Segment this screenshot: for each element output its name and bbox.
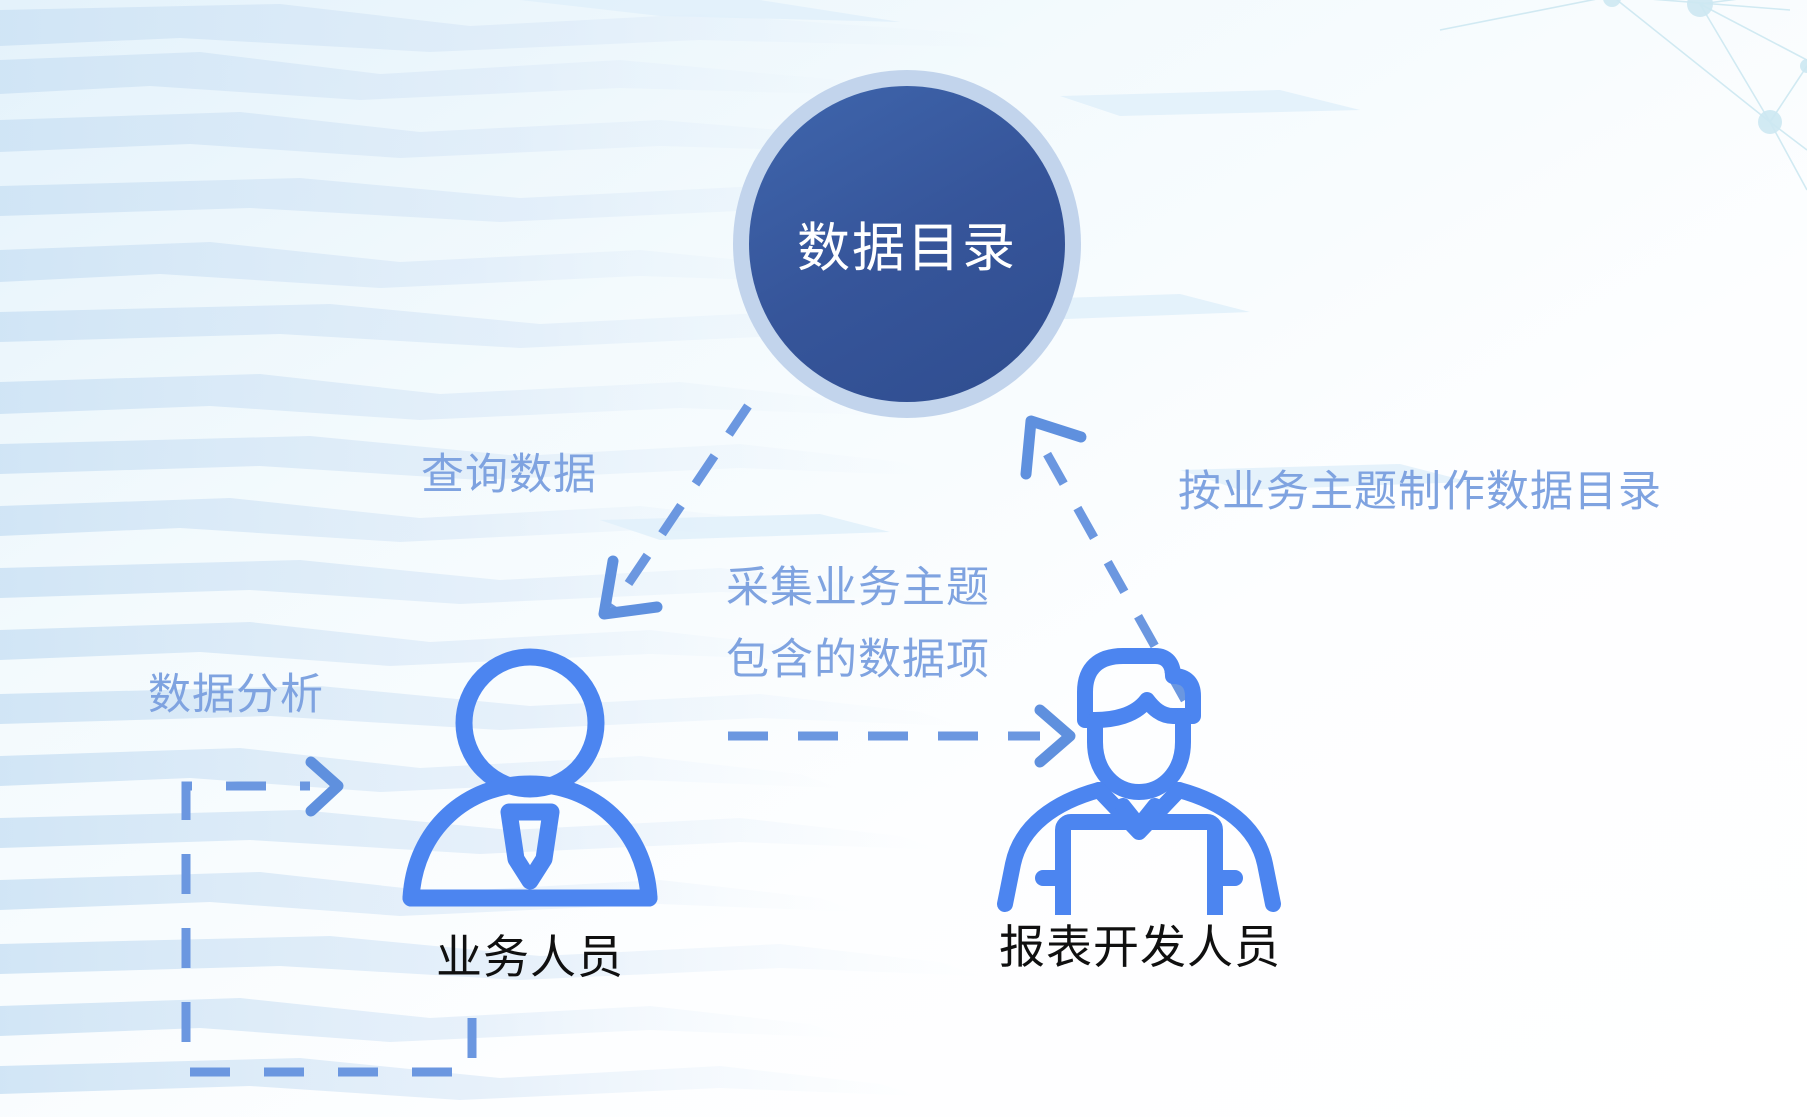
edge-label-data-analysis: 数据分析 (148, 660, 324, 722)
data-catalog-node-core: 数据目录 (749, 86, 1065, 402)
edge-label-collect-topics-line2: 包含的数据项 (726, 625, 990, 687)
edge-label-build-catalog: 按业务主题制作数据目录 (1178, 457, 1662, 519)
actor-business-person[interactable]: 业务人员 (395, 645, 665, 987)
actor-report-developer-label: 报表开发人员 (999, 911, 1281, 977)
business-person-icon (397, 645, 663, 915)
arrowhead-data-analysis (311, 762, 338, 811)
data-catalog-node[interactable]: 数据目录 (733, 70, 1081, 418)
edge-label-query-data: 查询数据 (421, 440, 597, 502)
edge-label-collect-topics-line1: 采集业务主题 (726, 553, 990, 615)
developer-laptop-icon (995, 620, 1285, 915)
actor-business-person-label: 业务人员 (436, 921, 624, 987)
actor-report-developer[interactable]: 报表开发人员 (995, 620, 1285, 977)
data-catalog-node-label: 数据目录 (797, 206, 1017, 282)
diagram-canvas: 数据目录 查询数据 采集业务主题 包含的数据项 按业务主题制作数据目录 数据分析… (0, 0, 1807, 1117)
